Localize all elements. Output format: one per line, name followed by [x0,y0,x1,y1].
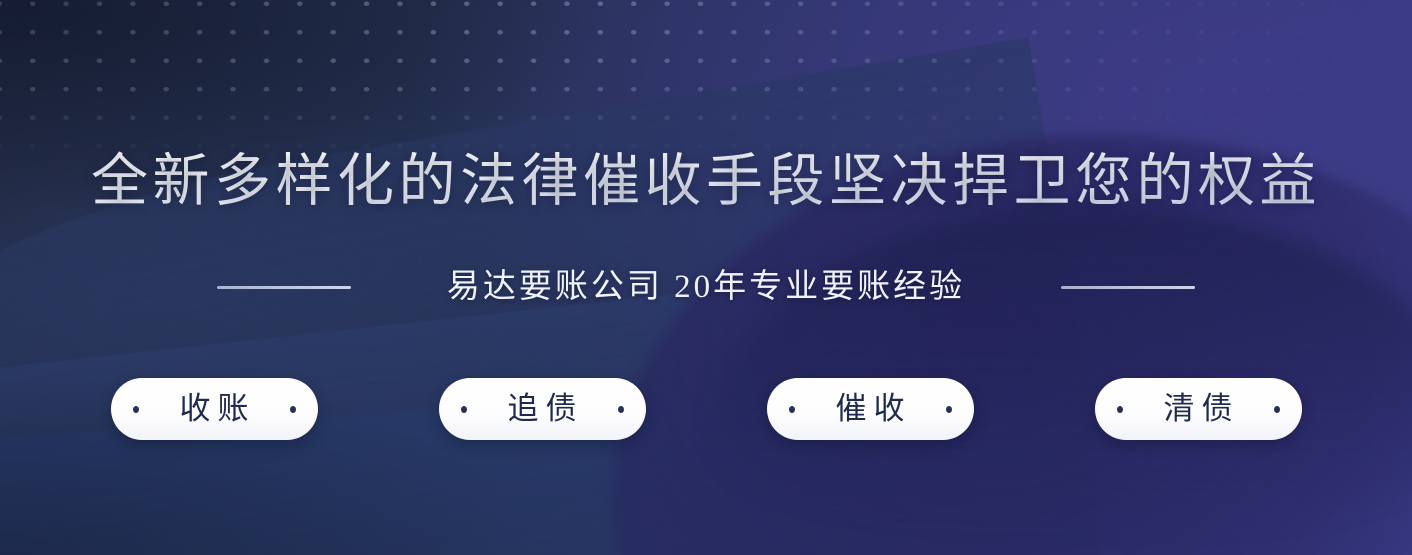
service-pill-label: 追债 [501,389,584,429]
bullet-dot-icon-left [133,406,139,413]
service-pill-label: 催收 [829,389,912,429]
divider-line-right [1061,286,1195,289]
service-pill-label: 清债 [1157,389,1240,429]
bullet-dot-icon-right [1274,406,1280,413]
bullet-dot-icon-left [789,406,795,413]
bullet-dot-icon-right [946,406,952,413]
banner-content: 全新多样化的法律催收手段坚决捍卫您的权益 易达要账公司 20年专业要账经验 收账… [0,0,1412,555]
bullet-dot-icon-left [461,406,467,413]
bullet-dot-icon-right [290,406,296,413]
service-pill-cuishou[interactable]: 催收 [767,378,974,440]
banner-subtitle-row: 易达要账公司 20年专业要账经验 [0,264,1412,310]
service-pill-zhuizhai[interactable]: 追债 [439,378,646,440]
service-pill-list: 收账 追债 催收 清债 [0,378,1412,440]
service-pill-qingzhai[interactable]: 清债 [1095,378,1302,440]
divider-line-left [217,286,351,289]
service-pill-label: 收账 [173,389,256,429]
bullet-dot-icon-right [618,406,624,413]
bullet-dot-icon-left [1117,406,1123,413]
service-pill-shouzhang[interactable]: 收账 [111,378,318,440]
banner-subtitle: 易达要账公司 20年专业要账经验 [447,264,965,310]
banner-headline: 全新多样化的法律催收手段坚决捍卫您的权益 [0,146,1412,218]
promotional-banner: 全新多样化的法律催收手段坚决捍卫您的权益 易达要账公司 20年专业要账经验 收账… [0,0,1412,555]
